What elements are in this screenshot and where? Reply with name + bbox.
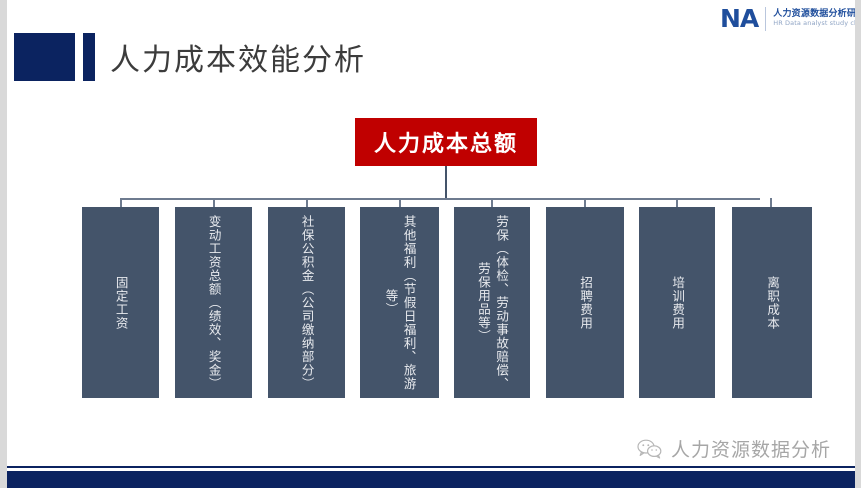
slide-content: NA 人力资源数据分析研习社 HR Data analyst study clu… <box>7 0 855 488</box>
cost-node-labor-protection: 劳保（体检、劳动事故赔偿、劳保用品等） <box>454 207 530 398</box>
connector-rail <box>120 198 760 200</box>
footer-watermark-label: 人力资源数据分析 <box>671 435 831 462</box>
cost-node-label: 离职成本 <box>763 276 781 330</box>
brand-logo: NA 人力资源数据分析研习社 HR Data analyst study clu… <box>720 6 861 31</box>
cost-node-label: 培训费用 <box>668 276 686 330</box>
cost-node-label: 固定工资 <box>111 276 129 330</box>
cost-node-social-insurance: 社保公积金（公司缴纳部分） <box>268 207 345 398</box>
cost-node-other-benefits: 其他福利（节假日福利、旅游等） <box>360 207 439 398</box>
page-title: 人力成本效能分析 <box>110 33 366 81</box>
connector-trunk <box>445 166 447 199</box>
cost-node-turnover-cost: 离职成本 <box>732 207 812 398</box>
cost-node-recruitment-cost: 招聘费用 <box>546 207 624 398</box>
wechat-icon <box>637 439 663 459</box>
cost-node-label: 招聘费用 <box>576 276 594 330</box>
logo-text-group: 人力资源数据分析研习社 HR Data analyst study club <box>773 9 861 27</box>
title-accent-bar <box>83 33 95 81</box>
footer-bar <box>7 471 855 488</box>
footer-watermark: 人力资源数据分析 <box>637 435 831 462</box>
logo-name-en: HR Data analyst study club <box>773 20 861 28</box>
cost-node-label: 变动工资总额（绩效、奖金） <box>204 215 222 391</box>
root-node: 人力成本总额 <box>355 118 537 166</box>
logo-divider <box>765 7 766 31</box>
cost-node-training-cost: 培训费用 <box>639 207 715 398</box>
logo-mark: NA <box>720 6 758 31</box>
cost-node-label: 其他福利（节假日福利、旅游等） <box>381 210 417 396</box>
cost-node-fixed-salary: 固定工资 <box>82 207 159 398</box>
cost-node-label: 社保公积金（公司缴纳部分） <box>297 215 315 391</box>
title-accent-block <box>14 33 75 81</box>
footer-rule <box>7 466 855 468</box>
cost-node-variable-salary: 变动工资总额（绩效、奖金） <box>175 207 252 398</box>
slide-canvas: NA 人力资源数据分析研习社 HR Data analyst study clu… <box>0 0 861 488</box>
cost-node-label: 劳保（体检、劳动事故赔偿、劳保用品等） <box>474 210 510 396</box>
